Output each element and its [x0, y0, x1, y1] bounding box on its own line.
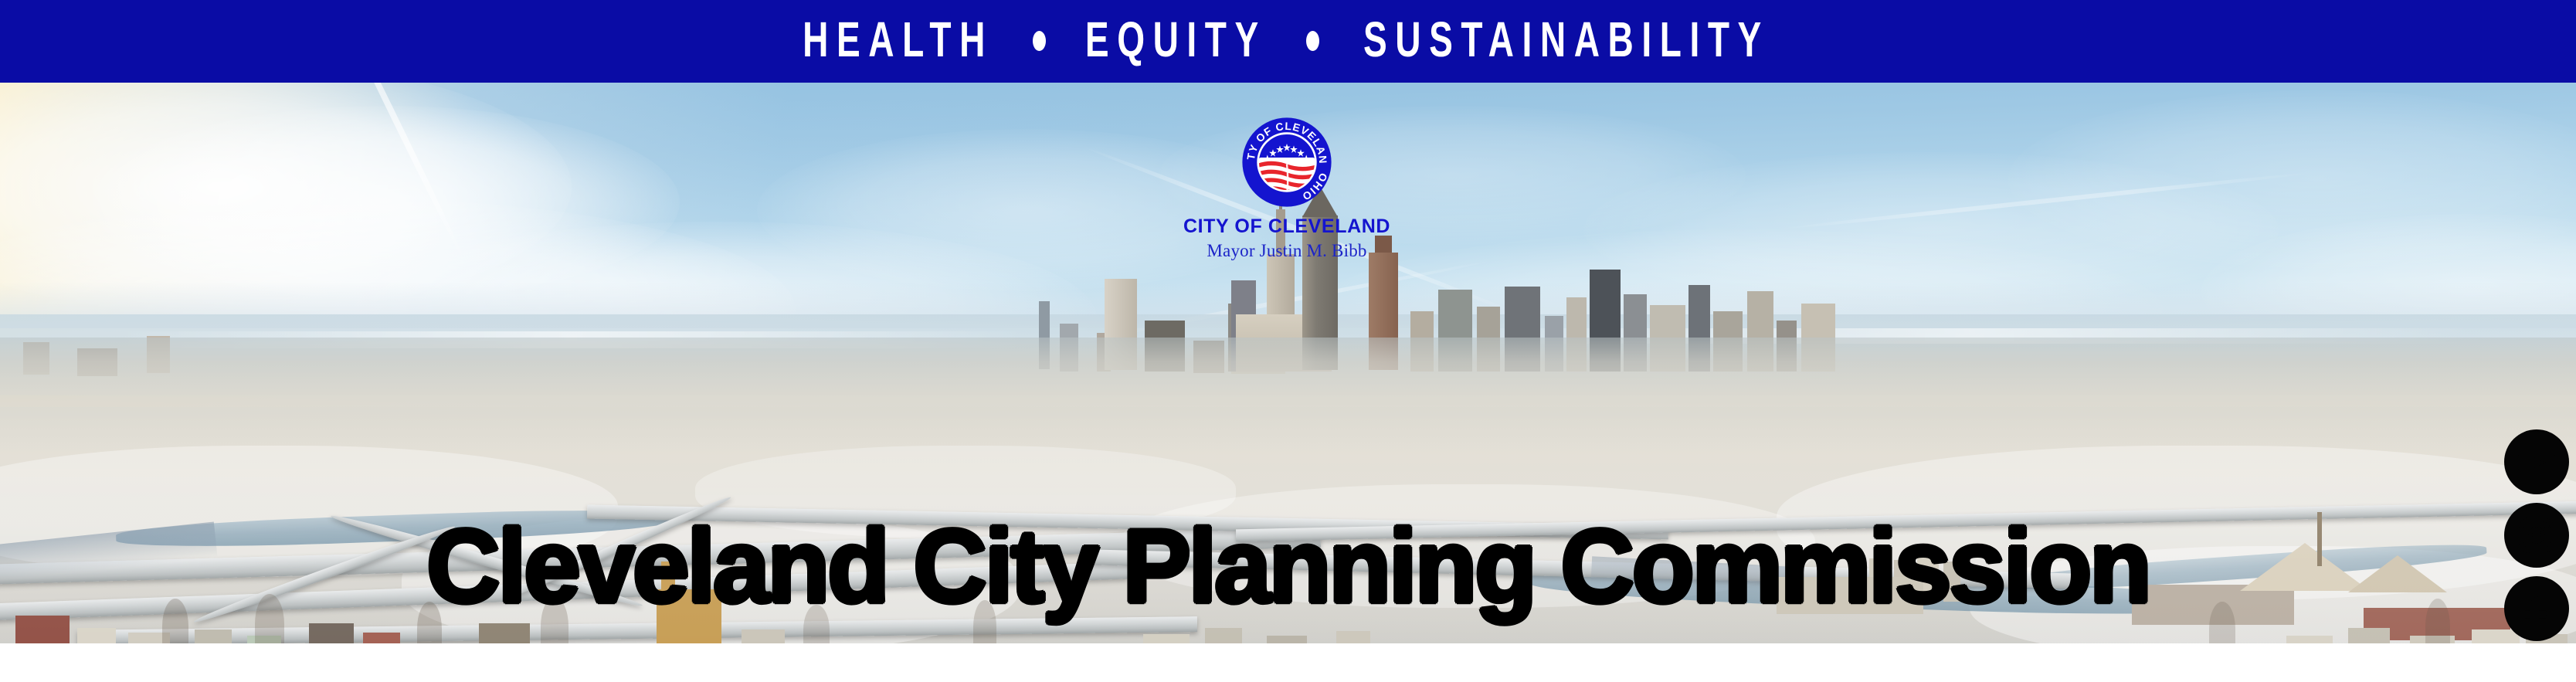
house-shape — [2348, 628, 2390, 643]
tagline-banner: HEALTH EQUITY SUSTAINABILITY — [0, 0, 2576, 83]
house-shape — [15, 616, 70, 643]
page-root: HEALTH EQUITY SUSTAINABILITY — [0, 0, 2576, 682]
house-shape — [1336, 631, 1370, 643]
instagram-link[interactable] — [2504, 503, 2569, 568]
house-shape — [1267, 636, 1307, 643]
bullet-dot-icon — [1033, 31, 1046, 51]
facebook-link[interactable] — [2504, 576, 2569, 641]
tagline-inner: HEALTH EQUITY SUSTAINABILITY — [799, 22, 1778, 59]
city-branding-block: CITY OF CLEVELAND OHIO — [1179, 116, 1395, 260]
social-links-rail — [2504, 429, 2569, 641]
house-shape — [479, 623, 530, 643]
tagline-word-equity: EQUITY — [1085, 15, 1267, 65]
house-shape — [77, 628, 116, 643]
house-shape — [309, 623, 354, 643]
bottom-white-strip — [0, 643, 2576, 682]
city-of-cleveland-seal-icon: CITY OF CLEVELAND OHIO — [1240, 116, 1333, 209]
city-name-label: CITY OF CLEVELAND — [1179, 216, 1395, 238]
tagline-word-health: HEALTH — [803, 15, 993, 65]
house-shape — [195, 629, 232, 643]
facebook-icon — [2504, 576, 2569, 641]
tagline-word-sustainability: SUSTAINABILITY — [1363, 15, 1769, 65]
house-shape — [1205, 628, 1242, 643]
bullet-dot-icon — [1306, 31, 1319, 51]
instagram-icon — [2504, 503, 2569, 568]
house-shape — [2286, 636, 2333, 643]
house-shape — [742, 629, 785, 643]
house-shape — [363, 633, 400, 643]
mayor-name-label: Mayor Justin M. Bibb — [1179, 241, 1395, 260]
youtube-icon — [2504, 429, 2569, 494]
house-shape — [1143, 634, 1190, 643]
youtube-link[interactable] — [2504, 429, 2569, 494]
page-title: Cleveland City Planning Commission — [0, 514, 2576, 619]
